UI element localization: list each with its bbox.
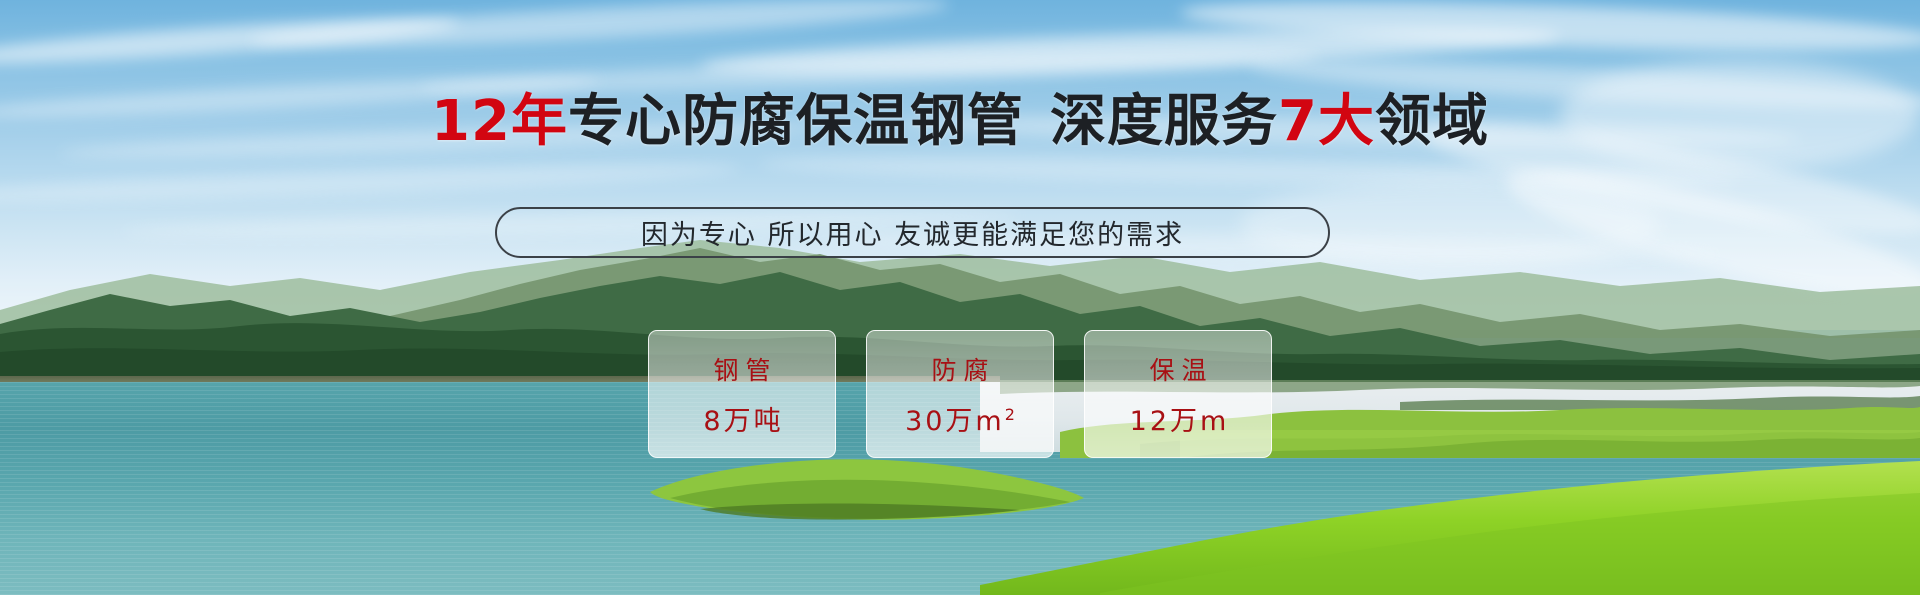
- stat-card-group: 钢管 8万吨 防腐 30万m2 保温 12万m: [648, 330, 1272, 458]
- stat-card-anticorrosion[interactable]: 防腐 30万m2: [866, 330, 1054, 458]
- stat-card-insulation[interactable]: 保温 12万m: [1084, 330, 1272, 458]
- stat-card-title: 保温: [1142, 351, 1213, 387]
- headline-years-number: 12: [431, 89, 511, 154]
- stat-card-steel-pipe[interactable]: 钢管 8万吨: [648, 330, 836, 458]
- stat-card-title: 钢管: [706, 351, 777, 387]
- stat-card-value: 12万m: [1127, 399, 1230, 438]
- foreground-grass: [980, 455, 1920, 595]
- headline-main-phrase: 专心防腐保温钢管: [568, 89, 1024, 154]
- promo-banner: 12年专心防腐保温钢管深度服务7大领域 因为专心 所以用心 友诚更能满足您的需求…: [0, 0, 1920, 595]
- stat-card-title: 防腐: [924, 351, 995, 387]
- stat-card-value-text: 30万m: [905, 406, 1005, 437]
- stat-card-value-text: 12万m: [1130, 406, 1230, 437]
- headline-fields-unit: 大: [1318, 89, 1375, 154]
- page-title: 12年专心防腐保温钢管深度服务7大领域: [0, 92, 1920, 152]
- headline-years-unit: 年: [511, 89, 568, 154]
- stat-card-value: 8万吨: [700, 399, 783, 438]
- stat-card-value: 30万m2: [902, 399, 1018, 438]
- stat-card-value-superscript: 2: [1005, 405, 1018, 424]
- subtitle-text: 因为专心 所以用心 友诚更能满足您的需求: [641, 213, 1184, 252]
- subtitle-pill: 因为专心 所以用心 友诚更能满足您的需求: [495, 207, 1330, 258]
- headline-fields-word: 领域: [1375, 89, 1489, 154]
- stat-card-value-text: 8万吨: [703, 406, 783, 437]
- headline-fields-number: 7: [1278, 89, 1318, 154]
- headline-service-phrase: 深度服务: [1050, 89, 1278, 154]
